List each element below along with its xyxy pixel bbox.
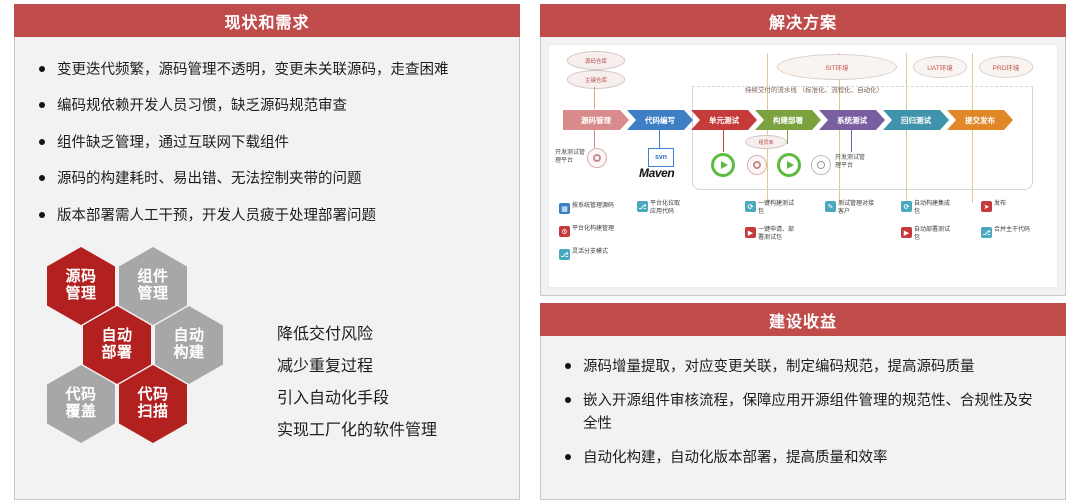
list-item: ✎ 测试管理对接 客户	[825, 201, 909, 216]
play-icon	[721, 161, 728, 169]
pipeline-stage-regression-test: 回归测试	[883, 110, 949, 130]
build-gear-icon	[747, 155, 767, 175]
component-repo-tag: 组员库	[745, 135, 787, 149]
benefit-line: 引入自动化手段	[277, 383, 437, 415]
hexagon-label-line1: 自动	[101, 328, 132, 345]
capability-hexagon-cluster: 源码 管理 组件 管理 自动 部署 自动 构建 代码 覆盖	[23, 247, 253, 482]
benefit-line: 减少重复过程	[277, 351, 437, 383]
hexagon-label-line1: 组件	[137, 269, 168, 286]
pipeline-stage-unit-test: 单元测试	[691, 110, 757, 130]
list-item: ▶ 一键申请、部 署测试包	[745, 227, 829, 242]
list-item: 组件缺乏管理，通过互联网下载组件	[37, 132, 499, 154]
hexagon-label-line2: 覆盖	[65, 404, 96, 421]
capability-label: 灵活分支模式	[572, 249, 608, 257]
current-status-title: 现状和需求	[14, 4, 520, 37]
branch-icon: ⎇	[981, 227, 992, 238]
benefit-line: 实现工厂化的软件管理	[277, 415, 437, 447]
pipeline-stage-system-test: 系统测试	[819, 110, 885, 130]
solution-panel: 解决方案 源码仓库 主键仓库 SIT环境 UAT环境 PRD环境 持续交付的流水…	[540, 4, 1066, 296]
list-item: ⎇ 灵活分支模式	[559, 249, 651, 260]
list-item: ⟳ 一键构建测试 包	[745, 201, 829, 216]
benefit-line: 降低交付风险	[277, 319, 437, 351]
list-item: ⚙ 平台化构建管理	[559, 226, 651, 237]
play-icon	[787, 161, 794, 169]
hexagon-label-line2: 管理	[65, 286, 96, 303]
construction-gains-bullet-list: 源码增量提取，对应变更关联，制定编码规范，提高源码质量 嵌入开源组件审核流程，保…	[563, 356, 1043, 470]
branch-icon: ⎇	[559, 249, 570, 260]
list-item: 版本部署需人工干预，开发人员疲于处理部署问题	[37, 205, 499, 227]
pipeline-stage-release: 提交发布	[947, 110, 1013, 130]
pipeline-stage-code-writing: 代码编写	[627, 110, 693, 130]
list-item: 自动化构建，自动化版本部署，提高质量和效率	[563, 447, 1043, 469]
list-item: 源码增量提取，对应变更关联，制定编码规范，提高源码质量	[563, 356, 1043, 378]
list-item: ⎇ 合并主干代码	[981, 227, 1051, 238]
capability-label: 测试管理对接 客户	[838, 201, 874, 216]
prd-environment-ellipse: PRD环境	[979, 56, 1033, 78]
hexagon-label-line2: 构建	[173, 345, 204, 362]
solution-title: 解决方案	[540, 4, 1066, 37]
gauge-icon	[817, 161, 825, 169]
platform-label-right: 开发测试管 理平台	[835, 155, 865, 171]
capability-label: 自动部署测试 包	[914, 227, 950, 242]
capability-label: 一键构建测试 包	[758, 201, 794, 216]
list-item: 源码的构建耗时、易出错、无法控制夹带的问题	[37, 168, 499, 190]
cicd-pipeline-diagram: 源码仓库 主键仓库 SIT环境 UAT环境 PRD环境 持续交付的流水线 （标准…	[548, 44, 1058, 288]
refresh-icon: ⟳	[745, 201, 756, 212]
stage-connector	[787, 130, 788, 144]
construction-gains-panel: 建设收益 源码增量提取，对应变更关联，制定编码规范，提高源码质量 嵌入开源组件审…	[540, 303, 1066, 500]
continuous-delivery-note-box	[692, 86, 1033, 190]
platform-label-left: 开发测试管 理平台	[555, 150, 585, 166]
maven-logo: Maven	[639, 166, 674, 180]
hexagon-label-line1: 自动	[173, 328, 204, 345]
send-icon: ➤	[981, 201, 992, 212]
list-item: 变更迭代频繁，源码管理不透明，变更未关联源码，走查困难	[37, 59, 499, 81]
svn-icon: svn	[648, 148, 674, 167]
gear-icon	[753, 161, 761, 169]
main-repo-ellipse: 主键仓库	[567, 70, 625, 89]
branch-icon: ⎇	[637, 201, 648, 212]
continuous-delivery-note-text: 持续交付的流水线 （标准化、流程化、自动化）	[739, 87, 889, 96]
sit-environment-ellipse: SIT环境	[777, 54, 897, 80]
list-item: ⟳ 自动构建集成 包	[901, 201, 981, 216]
capability-label: 自动构建集成 包	[914, 201, 950, 216]
benefit-line-list: 降低交付风险 减少重复过程 引入自动化手段 实现工厂化的软件管理	[277, 319, 437, 447]
capability-label: 平台化拉取 应用代码	[650, 201, 680, 216]
refresh-icon: ⟳	[901, 201, 912, 212]
construction-gains-body: 源码增量提取，对应变更关联，制定编码规范，提高源码质量 嵌入开源组件审核流程，保…	[540, 336, 1066, 500]
capability-label: 平台化构建管理	[572, 226, 614, 234]
pipeline-stage-source-management: 源码管理	[563, 110, 629, 130]
pipeline-stage-build-deploy: 构建部署	[755, 110, 821, 130]
stage-connector	[851, 130, 852, 152]
capability-label: 一键申请、部 署测试包	[758, 227, 794, 242]
repo-to-pipeline-connector	[594, 87, 595, 109]
list-item: ⎇ 平台化拉取 应用代码	[637, 201, 723, 216]
gear-icon	[593, 154, 601, 162]
list-item: 嵌入开源组件审核流程，保障应用开源组件管理的规范性、合规性及安全性	[563, 390, 1043, 435]
stage-connector	[723, 130, 724, 152]
hexagon-label-line1: 源码	[65, 269, 96, 286]
play-icon: ▶	[901, 227, 912, 238]
hexagon-label-line2: 部署	[101, 345, 132, 362]
list-item: ➤ 发布	[981, 201, 1037, 212]
play-icon: ▶	[745, 227, 756, 238]
hexagon-label-line1: 代码	[65, 387, 96, 404]
build-deploy-run-icon	[777, 153, 801, 177]
hexagon-label-line2: 扫描	[137, 404, 168, 421]
hexagon-label-line1: 代码	[137, 387, 168, 404]
list-item: ▶ 自动部署测试 包	[901, 227, 981, 242]
gear-icon: ⚙	[559, 226, 570, 237]
capability-label: 发布	[994, 201, 1006, 209]
construction-gains-title: 建设收益	[540, 303, 1066, 336]
list-item: 编码规依赖开发人员习惯，缺乏源码规范审查	[37, 95, 499, 117]
capability-label: 合并主干代码	[994, 227, 1030, 235]
grid-icon: ▦	[559, 203, 570, 214]
platform-gear-icon-left	[587, 148, 607, 168]
hexagon-label-line2: 管理	[137, 286, 168, 303]
capability-label: 按系统管理源码	[572, 203, 614, 211]
stage-connector	[659, 130, 660, 148]
uat-environment-ellipse: UAT环境	[913, 56, 967, 78]
current-status-panel: 现状和需求 变更迭代频繁，源码管理不透明，变更未关联源码，走查困难 编码规依赖开…	[14, 4, 520, 500]
system-test-meter-icon	[811, 155, 831, 175]
solution-body: 源码仓库 主键仓库 SIT环境 UAT环境 PRD环境 持续交付的流水线 （标准…	[540, 37, 1066, 296]
source-repo-ellipse: 源码仓库	[567, 51, 625, 70]
current-status-bullet-list: 变更迭代频繁，源码管理不透明，变更未关联源码，走查困难 编码规依赖开发人员习惯，…	[37, 59, 499, 227]
current-status-body: 变更迭代频繁，源码管理不透明，变更未关联源码，走查困难 编码规依赖开发人员习惯，…	[14, 37, 520, 500]
slide-canvas: 现状和需求 变更迭代频繁，源码管理不透明，变更未关联源码，走查困难 编码规依赖开…	[0, 0, 1080, 503]
edit-icon: ✎	[825, 201, 836, 212]
unit-test-run-icon	[711, 153, 735, 177]
